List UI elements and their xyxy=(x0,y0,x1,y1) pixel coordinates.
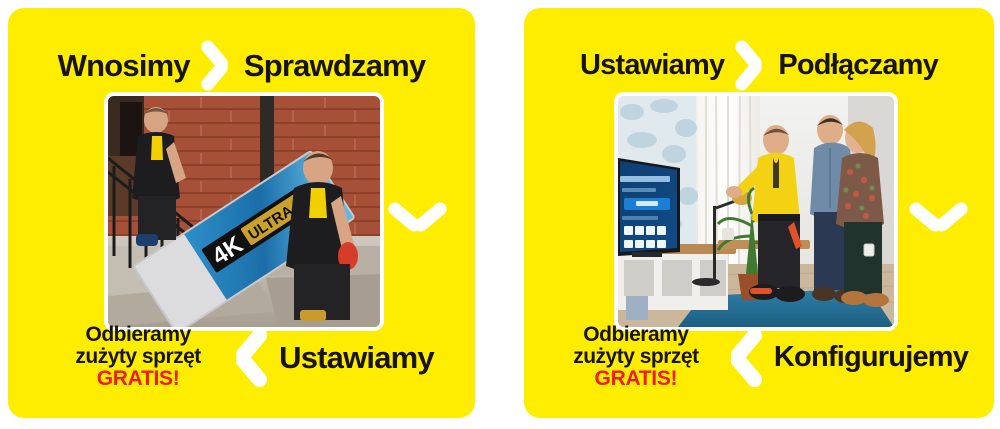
pickup-line-2: zużyty sprzęt xyxy=(49,346,227,368)
header-steps-right: Ustawiamy Podłączamy xyxy=(524,30,994,100)
header-steps-left: Wnosimy Sprawdzamy xyxy=(8,30,475,100)
step-label-podlaczamy: Podłączamy xyxy=(778,51,938,80)
footer-steps-right: Odbieramy zużyty sprzęt GRATIS! Konfigur… xyxy=(524,314,994,400)
pickup-free-badge: GRATIS! xyxy=(49,368,227,390)
photo-installation xyxy=(614,92,898,331)
chevron-down-icon-left-card xyxy=(387,198,449,241)
pickup-line-1: Odbieramy xyxy=(49,324,227,346)
photo-delivery-illustration: 4K ULTRA HD xyxy=(108,96,380,327)
service-steps-banner: Wnosimy Sprawdzamy xyxy=(0,0,1000,429)
pickup-free-badge: GRATIS! xyxy=(550,368,722,390)
service-step-card-left: Wnosimy Sprawdzamy xyxy=(8,8,475,418)
pickup-line-2: zużyty sprzęt xyxy=(550,346,722,368)
photo-delivery: 4K ULTRA HD xyxy=(104,92,384,331)
chevron-right-icon xyxy=(734,36,768,94)
step-label-ustawiamy: Ustawiamy xyxy=(279,342,434,373)
chevron-left-icon xyxy=(728,323,768,391)
step-label-konfigurujemy: Konfigurujemy xyxy=(774,343,968,372)
chevron-right-icon xyxy=(200,36,234,94)
chevron-left-icon xyxy=(233,323,273,391)
photo-installation-illustration xyxy=(618,96,894,327)
step-label-sprawdzamy: Sprawdzamy xyxy=(244,50,426,81)
footer-steps-left: Odbieramy zużyty sprzęt GRATIS! Ustawiam… xyxy=(8,314,475,400)
pickup-line-1: Odbieramy xyxy=(550,324,722,346)
step-label-ustawiamy-header: Ustawiamy xyxy=(580,51,724,80)
step-label-wnosimy: Wnosimy xyxy=(58,50,190,81)
pickup-note-right: Odbieramy zużyty sprzęt GRATIS! xyxy=(550,324,722,390)
chevron-down-icon-right-card xyxy=(908,198,970,241)
service-step-card-right: Ustawiamy Podłączamy xyxy=(524,8,994,418)
pickup-note-left: Odbieramy zużyty sprzęt GRATIS! xyxy=(49,324,227,390)
